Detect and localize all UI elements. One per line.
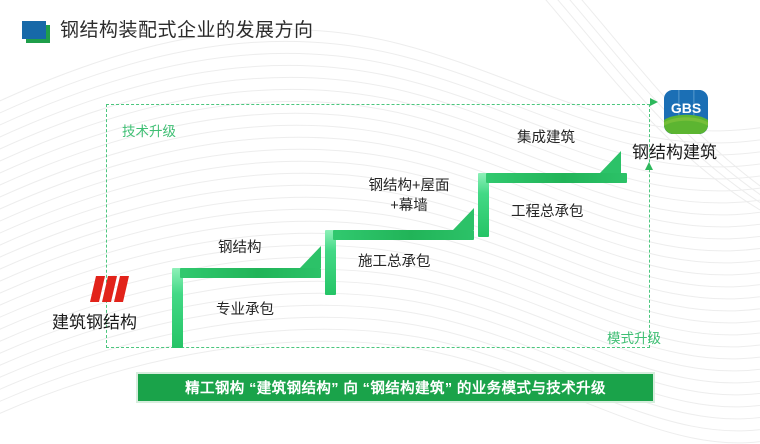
step-3-bottom-label: 工程总承包 [511,200,584,221]
step-3-top-label: 集成建筑 [517,128,575,148]
step-1-arrow-icon [300,246,321,268]
step-2-top-label-line1: 钢结构+屋面 [344,176,474,196]
region-arrow-up-icon [645,162,653,170]
red-triple-stroke-logo [88,276,130,302]
summary-banner: 精工钢构 “建筑钢结构” 向 “钢结构建筑” 的业务模式与技术升级 [136,372,655,403]
step-2-tread [333,230,474,240]
end-node-label: 钢结构建筑 [632,138,717,163]
step-3-arrow-icon [600,151,621,173]
square-blue-icon [22,21,46,39]
step-1-riser [172,268,183,348]
region-label-mode-upgrade: 模式升级 [607,327,661,347]
start-node-label: 建筑钢结构 [52,308,137,333]
header-bullet-icon [22,21,52,43]
step-3-tread [486,173,627,183]
step-1-bottom-label: 专业承包 [216,298,274,319]
slide-header: 钢结构装配式企业的发展方向 [0,0,760,56]
slide-canvas: 钢结构装配式企业的发展方向 技术升级 模式升级 钢结构 专业承包 钢结构+屋面 … [0,0,760,444]
region-arrow-right-icon [650,98,658,106]
gbs-logo: GBS [664,90,708,134]
region-label-tech-upgrade: 技术升级 [122,120,176,140]
svg-text:GBS: GBS [671,100,701,116]
summary-banner-text: 精工钢构 “建筑钢结构” 向 “钢结构建筑” 的业务模式与技术升级 [185,377,606,398]
step-2-top-label-line2: +幕墙 [344,196,474,216]
step-1-top-label: 钢结构 [218,238,262,258]
step-1-tread [180,268,321,278]
step-2-bottom-label: 施工总承包 [358,250,431,271]
step-2-top-label: 钢结构+屋面 +幕墙 [344,176,474,216]
page-title: 钢结构装配式企业的发展方向 [60,15,314,42]
